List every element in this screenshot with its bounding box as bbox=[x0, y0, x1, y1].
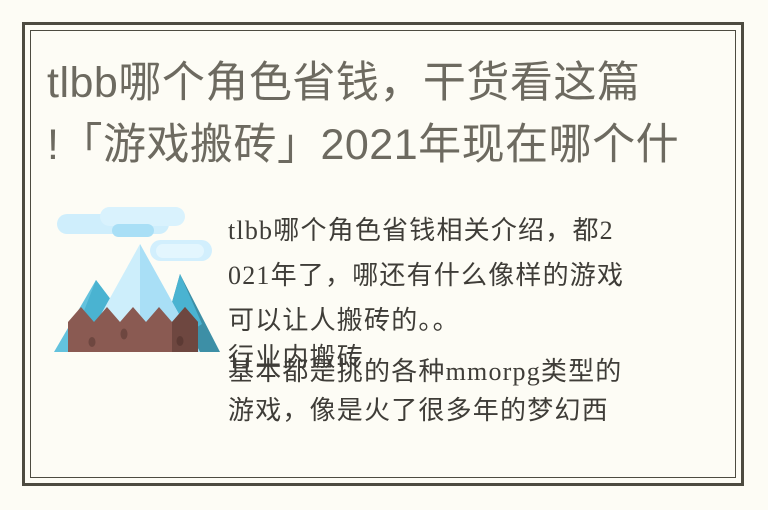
body-line-1: tlbb哪个角色省钱相关介绍，都2 bbox=[228, 208, 698, 253]
article-body: tlbb哪个角色省钱相关介绍，都2 021年了，哪还有什么像样的游戏 可以让人搬… bbox=[228, 208, 698, 433]
body-line-2: 021年了，哪还有什么像样的游戏 bbox=[228, 253, 698, 298]
overlapping-text-group: 行业内搬砖 基本都是挑的各种mmorpg类型的 bbox=[228, 343, 698, 388]
page-title: tlbb哪个角色省钱，干货看这篇 !「游戏搬砖」2021年现在哪个什 bbox=[47, 52, 731, 176]
card-content: tlbb哪个角色省钱，干货看这篇 !「游戏搬砖」2021年现在哪个什 bbox=[30, 30, 736, 478]
body-line-overlap-bottom: 基本都是挑的各种mmorpg类型的 bbox=[228, 349, 623, 394]
title-line-1: tlbb哪个角色省钱，干货看这篇 bbox=[47, 52, 731, 114]
cloud-group bbox=[57, 207, 212, 261]
article-card: tlbb哪个角色省钱，干货看这篇 !「游戏搬砖」2021年现在哪个什 bbox=[0, 0, 768, 510]
mountain-icon bbox=[52, 202, 227, 362]
title-line-2: !「游戏搬砖」2021年现在哪个什 bbox=[47, 114, 731, 176]
body-line-last: 游戏，像是火了很多年的梦幻西 bbox=[228, 388, 698, 433]
